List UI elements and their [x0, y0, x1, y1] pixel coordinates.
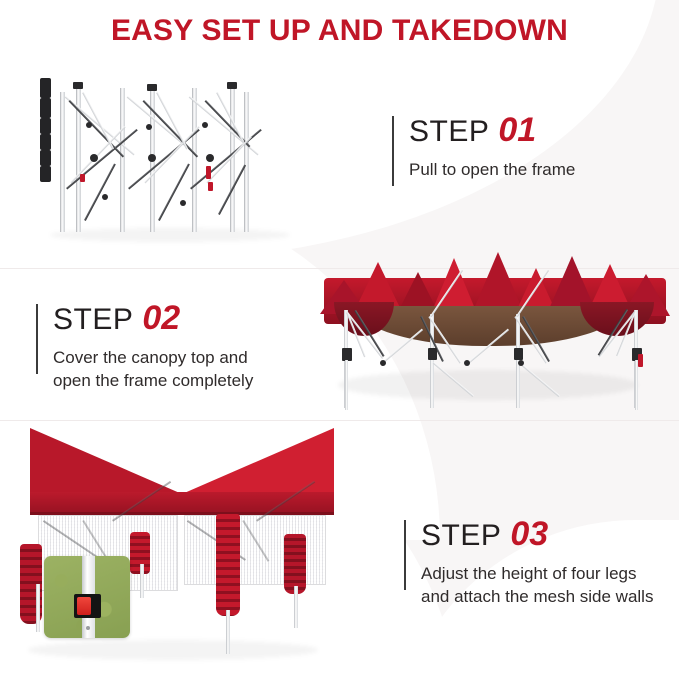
- step-description: Cover the canopy top and open the frame …: [53, 346, 253, 392]
- step-block-03: STEP03 Adjust the height of four legs an…: [404, 516, 653, 608]
- step-description: Pull to open the frame: [409, 158, 575, 181]
- step-number: 02: [142, 299, 180, 337]
- infographic-canvas: EASY SET UP AND TAKEDOWN: [0, 0, 679, 679]
- section-divider-2: [0, 420, 679, 421]
- step-label: STEP: [421, 519, 501, 552]
- step-accent-bar: [392, 116, 394, 186]
- leg-height-adjust-inset-photo: [44, 556, 130, 638]
- step-description: Adjust the height of four legs and attac…: [421, 562, 653, 608]
- step-heading: STEP02: [53, 300, 253, 338]
- height-adjust-button[interactable]: [77, 597, 91, 615]
- step-number: 01: [498, 111, 536, 149]
- step-accent-bar: [36, 304, 38, 374]
- step-heading: STEP03: [421, 516, 653, 554]
- step-number: 03: [510, 515, 548, 553]
- step-label: STEP: [409, 115, 489, 148]
- brand-mark-icon: [188, 450, 220, 459]
- illustration-canopy-draped: [318, 250, 670, 410]
- leg-hole: [86, 626, 90, 630]
- step-heading: STEP01: [409, 112, 575, 150]
- page-title: EASY SET UP AND TAKEDOWN: [0, 14, 679, 48]
- brand-logo: ABCCANOPY: [176, 447, 232, 469]
- step-block-02: STEP02 Cover the canopy top and open the…: [36, 300, 253, 392]
- illustration-folded-frame: [40, 78, 300, 248]
- step-label: STEP: [53, 303, 133, 336]
- step-block-01: STEP01 Pull to open the frame: [392, 112, 575, 181]
- step-accent-bar: [404, 520, 406, 590]
- brand-name: ABCCANOPY: [186, 460, 222, 466]
